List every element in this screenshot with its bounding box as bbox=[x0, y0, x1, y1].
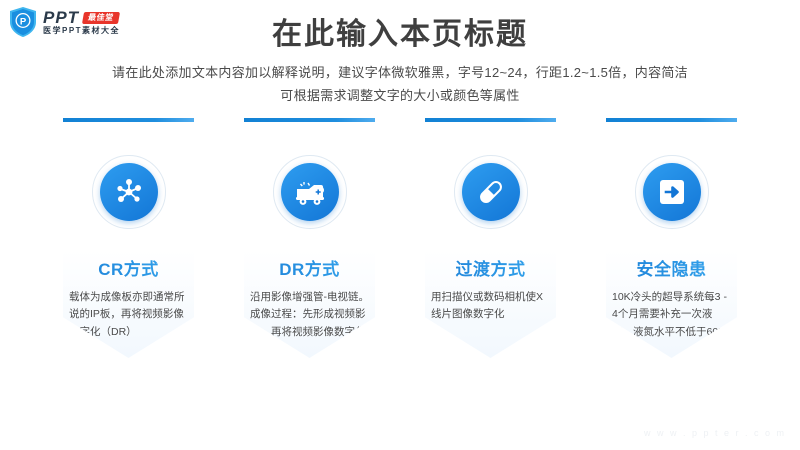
icon-ring bbox=[454, 155, 528, 229]
icon-ring bbox=[273, 155, 347, 229]
card-body: DR方式 沿用影像增强管-电视链。成像过程：先形成视频影像，再将视频影像数字化（… bbox=[244, 118, 375, 358]
card-heading: 过渡方式 bbox=[425, 255, 556, 280]
card-text: 用扫描仪或数码相机使X线片图像数字化 bbox=[431, 289, 550, 324]
card-text: 载体为成像板亦即通常所说的IP板，再将视频影像数字化（DR） bbox=[69, 289, 188, 341]
card-body: 过渡方式 用扫描仪或数码相机使X线片图像数字化 bbox=[425, 118, 556, 358]
card-body: CR方式 载体为成像板亦即通常所说的IP板，再将视频影像数字化（DR） bbox=[63, 118, 194, 358]
card-top-accent-bar bbox=[606, 118, 737, 122]
card-dr[interactable]: DR方式 沿用影像增强管-电视链。成像过程：先形成视频影像，再将视频影像数字化（… bbox=[244, 118, 375, 408]
ambulance-icon bbox=[281, 163, 339, 221]
card-text: 10K冷头的超导系统每3 - 4个月需要补充一次液氮，液氮水平不低于60% bbox=[612, 289, 731, 341]
card-heading: DR方式 bbox=[244, 255, 375, 280]
card-body: 安全隐患 10K冷头的超导系统每3 - 4个月需要补充一次液氮，液氮水平不低于6… bbox=[606, 118, 737, 358]
icon-ring bbox=[635, 155, 709, 229]
molecule-icon bbox=[100, 163, 158, 221]
subtitle-line-1: 请在此处添加文本内容加以解释说明，建议字体微软雅黑，字号12~24，行距1.2~… bbox=[0, 62, 800, 85]
card-safety[interactable]: 安全隐患 10K冷头的超导系统每3 - 4个月需要补充一次液氮，液氮水平不低于6… bbox=[606, 118, 737, 408]
card-row: CR方式 载体为成像板亦即通常所说的IP板，再将视频影像数字化（DR） bbox=[0, 118, 800, 408]
page-subtitle: 请在此处添加文本内容加以解释说明，建议字体微软雅黑，字号12~24，行距1.2~… bbox=[0, 62, 800, 108]
card-heading: CR方式 bbox=[63, 255, 194, 280]
subtitle-line-2: 可根据需求调整文字的大小或颜色等属性 bbox=[0, 85, 800, 108]
export-arrow-icon bbox=[643, 163, 701, 221]
card-heading: 安全隐患 bbox=[606, 255, 737, 280]
site-watermark: w w w . p p t e r . c o m bbox=[644, 428, 786, 438]
page-title: 在此输入本页标题 bbox=[0, 16, 800, 54]
icon-ring bbox=[92, 155, 166, 229]
card-cr[interactable]: CR方式 载体为成像板亦即通常所说的IP板，再将视频影像数字化（DR） bbox=[63, 118, 194, 408]
card-text: 沿用影像增强管-电视链。成像过程：先形成视频影像，再将视频影像数字化（DR） bbox=[250, 289, 369, 358]
card-top-accent-bar bbox=[244, 118, 375, 122]
card-top-accent-bar bbox=[63, 118, 194, 122]
card-top-accent-bar bbox=[425, 118, 556, 122]
pill-icon bbox=[462, 163, 520, 221]
card-transition[interactable]: 过渡方式 用扫描仪或数码相机使X线片图像数字化 bbox=[425, 118, 556, 408]
